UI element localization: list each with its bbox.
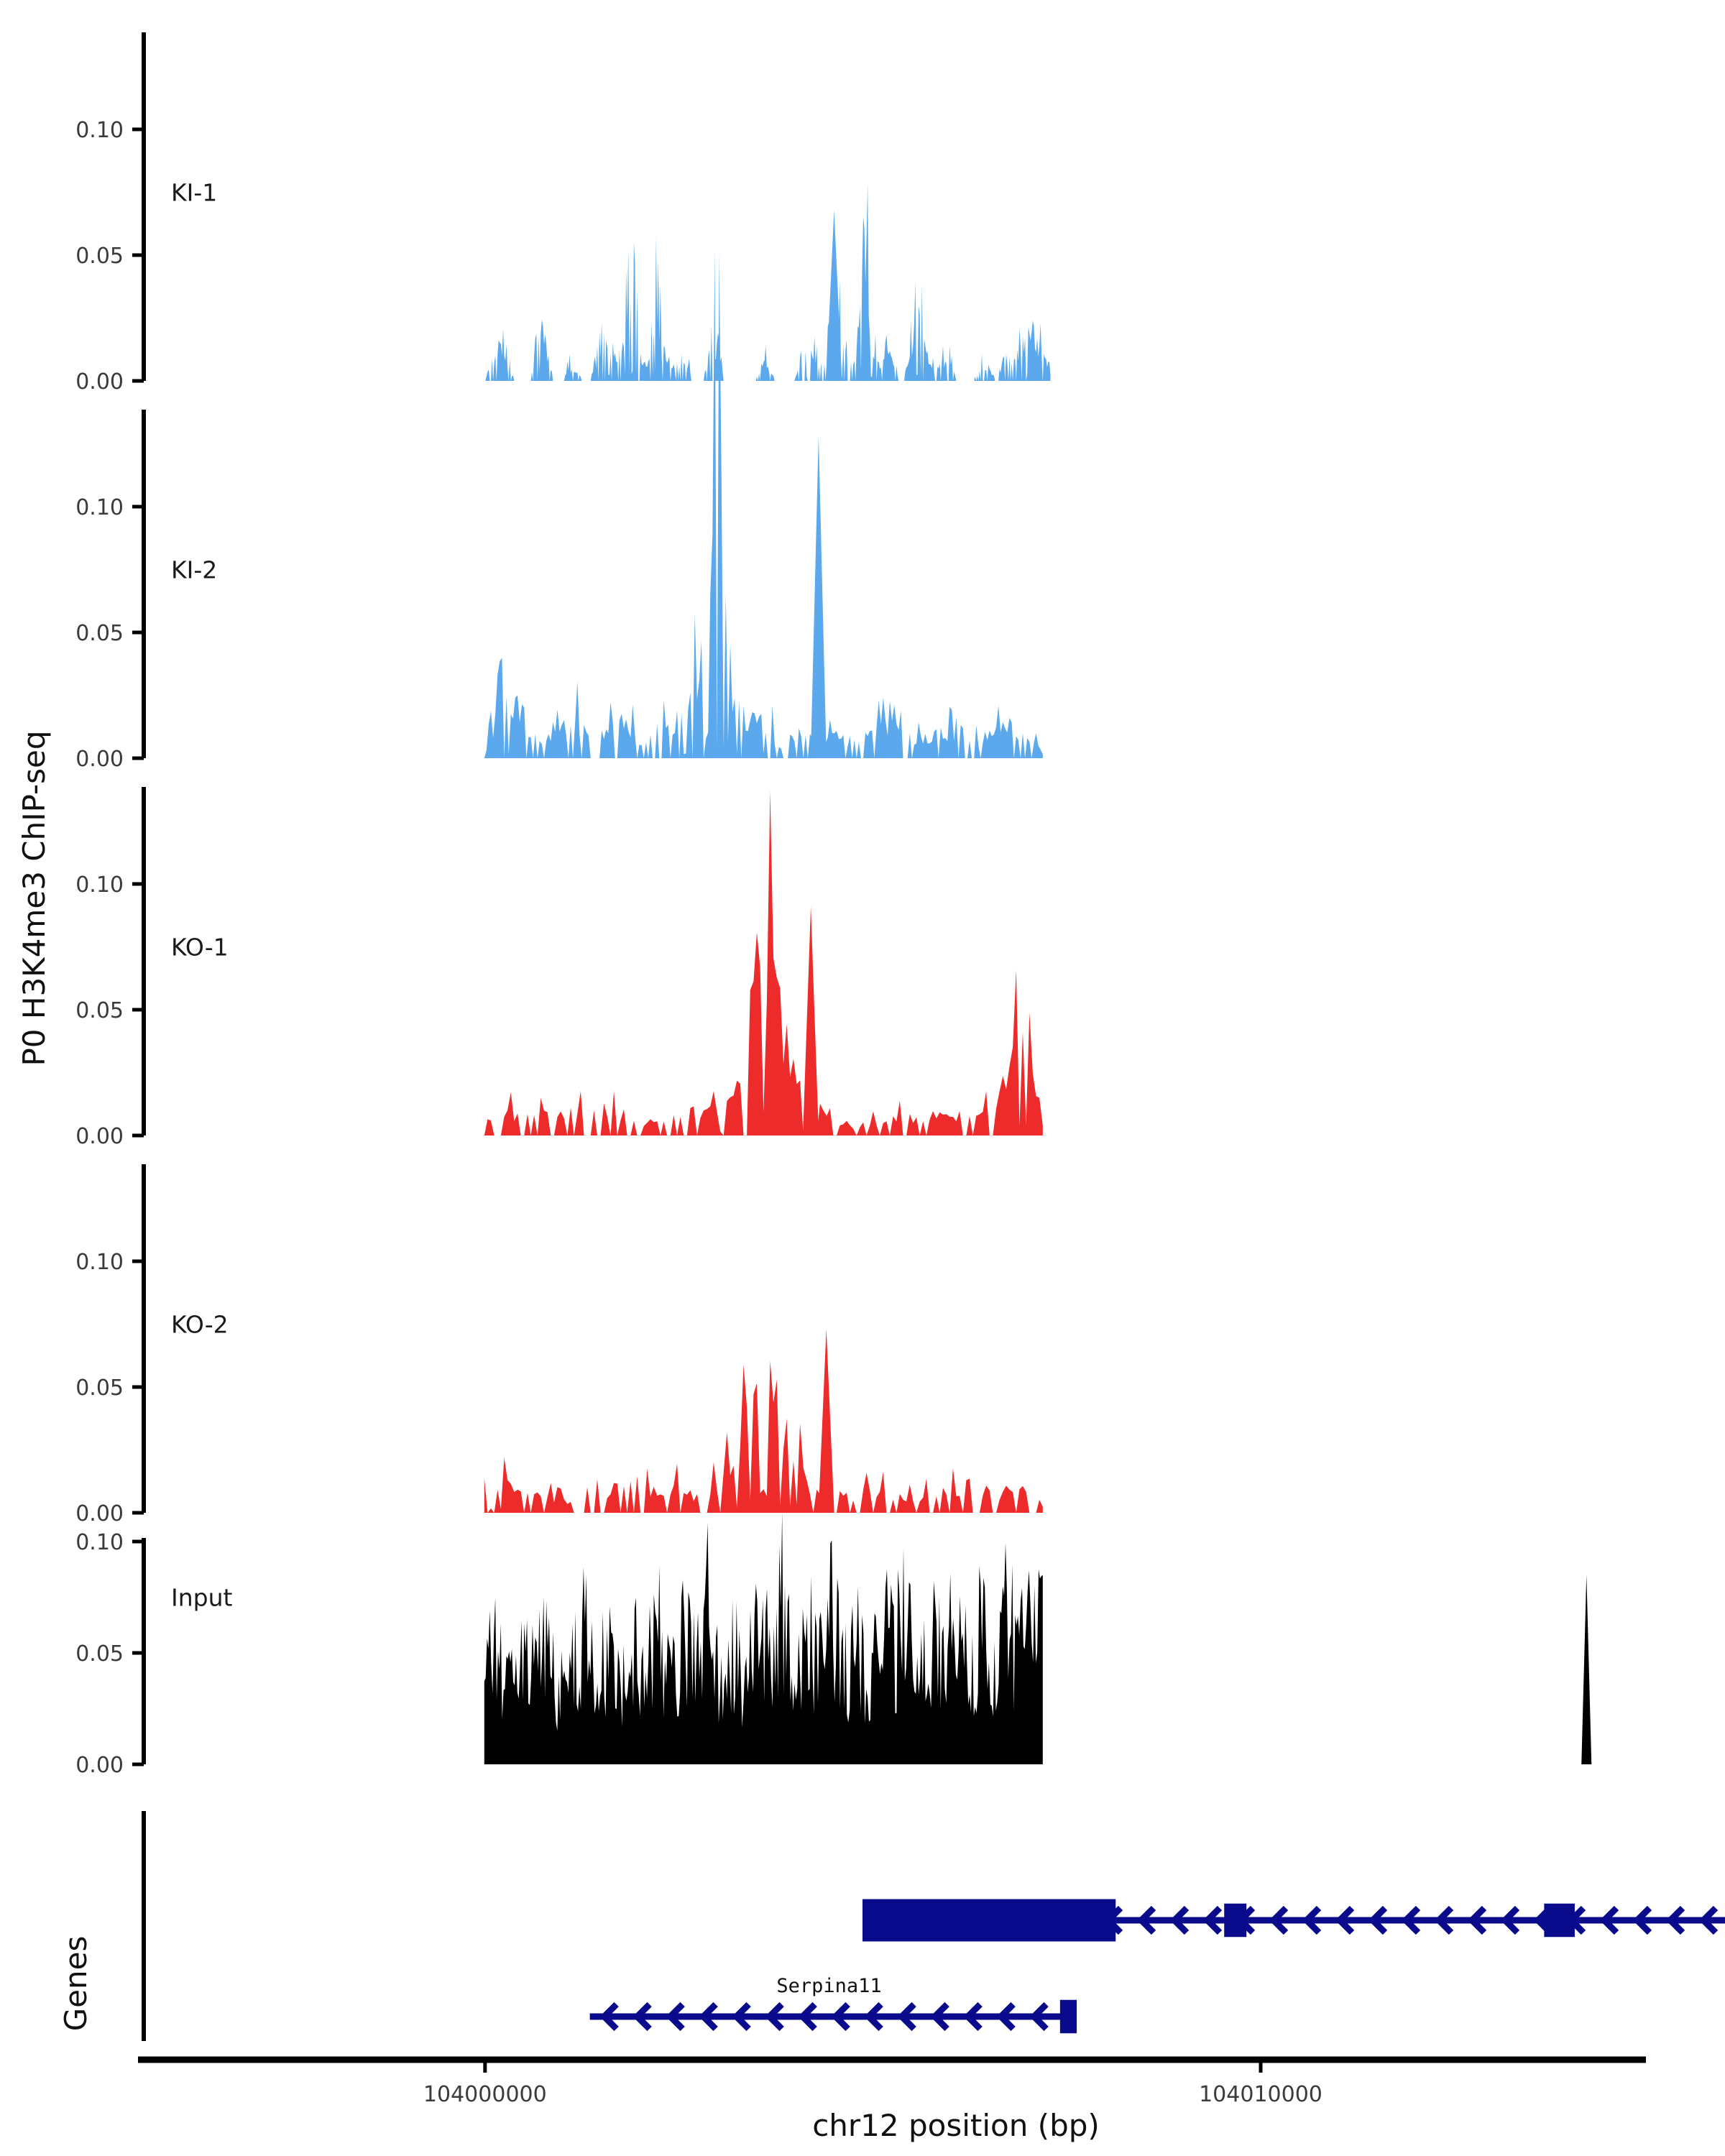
track-label-ki-1: KI-1 (171, 179, 217, 207)
y-tick-label: 0.10 (75, 1530, 124, 1555)
genes-panel: GenesSerpina9Serpina11 (58, 1811, 1725, 2041)
signal-area-ki-2 (484, 249, 1043, 758)
y-tick-label: 0.05 (75, 1376, 124, 1401)
y-tick-label: 0.05 (75, 244, 124, 269)
y-tick-label: 0.05 (75, 621, 124, 646)
track-panel-ki-1: 0.000.050.10KI-1 (75, 32, 1050, 395)
track-label-ki-2: KI-2 (171, 556, 217, 584)
chipseq-track-figure: 0.000.050.10KI-10.000.050.10KI-20.000.05… (0, 0, 1725, 2156)
y-tick-label: 0.00 (75, 747, 124, 772)
track-label-ko-1: KO-1 (171, 934, 229, 962)
gene-exon (1060, 2000, 1077, 2034)
track-panel-ko-2: 0.000.050.10KO-2 (75, 1164, 1043, 1526)
track-panel-ki-2: 0.000.050.10KI-2 (75, 249, 1043, 772)
signal-max-peak-input (1581, 1575, 1591, 1765)
signal-max-peak-ki-2 (811, 436, 827, 758)
gene-exon (1224, 1904, 1246, 1938)
signal-max-peak-ki-1 (826, 210, 842, 381)
track-panel-input: 0.000.050.10Input (75, 1512, 1591, 1778)
track-label-input: Input (171, 1584, 233, 1612)
y-tick-label: 0.00 (75, 369, 124, 395)
gene-label-serpina11: Serpina11 (776, 1975, 881, 1997)
signal-area-ko-2 (484, 1361, 1043, 1513)
figure-root: 0.000.050.10KI-10.000.050.10KI-20.000.05… (0, 0, 1725, 2156)
gene-serpina9[interactable]: Serpina9 (862, 1879, 1725, 1941)
y-tick-label: 0.05 (75, 1641, 124, 1667)
y-tick-label: 0.10 (75, 118, 124, 143)
gene-exon (1544, 1904, 1575, 1938)
y-tick-label: 0.05 (75, 998, 124, 1023)
x-axis-title: chr12 position (bp) (812, 2108, 1100, 2143)
gene-serpina11[interactable]: Serpina11 (590, 1975, 1077, 2033)
y-tick-label: 0.00 (75, 1501, 124, 1526)
y-axis-title: P0 H3K4me3 ChIP-seq (17, 730, 52, 1066)
track-panel-ko-1: 0.000.050.10KO-1 (75, 787, 1043, 1149)
signal-area-ko-1 (484, 791, 1043, 1136)
signal-max-peak-ko-1 (803, 907, 819, 1136)
gene-exon (862, 1899, 1115, 1942)
genes-axis-title: Genes (58, 1936, 93, 2032)
y-tick-label: 0.00 (75, 1753, 124, 1778)
x-tick-label: 104000000 (423, 2082, 547, 2107)
y-tick-label: 0.10 (75, 1250, 124, 1275)
signal-area-input (484, 1512, 1043, 1764)
y-tick-label: 0.10 (75, 872, 124, 898)
y-tick-label: 0.10 (75, 495, 124, 520)
x-tick-label: 104010000 (1199, 2082, 1322, 2107)
track-label-ko-2: KO-2 (171, 1311, 229, 1339)
y-tick-label: 0.00 (75, 1124, 124, 1149)
signal-max-peak-ko-2 (819, 1330, 834, 1514)
signal-area-ki-1 (484, 184, 1051, 381)
